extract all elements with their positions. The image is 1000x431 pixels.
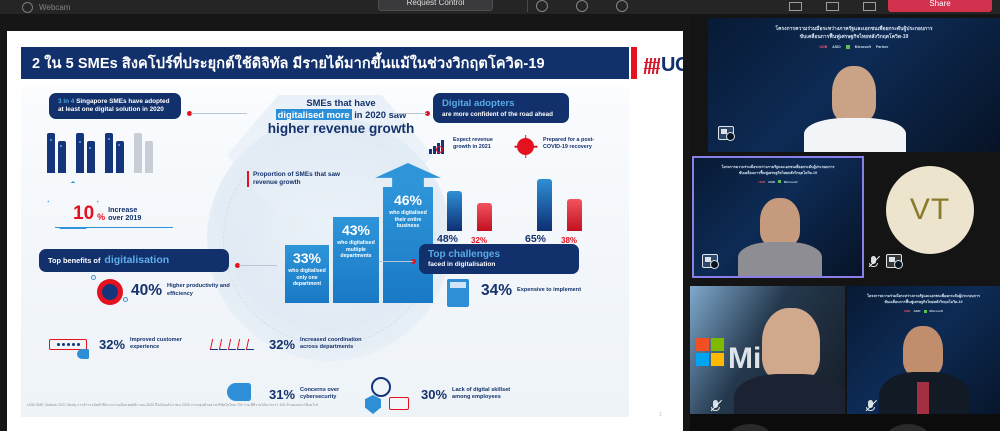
deck-header-line2: ขับเคลื่อนการฟื้นฟูเศรษฐกิจไทยหลังวิกฤตโ… [856,299,991,305]
building-icon [47,129,69,173]
logo-square-icon [846,45,850,49]
headline-highlight: digitalised more [276,109,352,120]
logo-square-icon [924,310,927,313]
increase-underline [55,227,173,228]
deck-header-line2: ขับเคลื่อนการฟื้นฟูเศรษฐกิจไทยหลังวิกฤตโ… [704,170,852,176]
virus-icon [517,138,534,155]
building-icon [105,129,127,173]
connector-line [393,113,427,114]
deck-header-line1: โครงการความร่วมมือระหว่างภาครัฐและเอกชนเ… [726,25,983,33]
people-icon[interactable] [826,2,839,11]
headline-line1: SMEs that have [249,97,433,108]
webcam-icon[interactable] [22,2,33,13]
callout-top-challenges: Top challenges faced in digitalisation [419,244,579,274]
connector-line [239,265,277,266]
mic-muted-icon[interactable] [708,398,723,413]
adopters-bar-32 [477,203,492,231]
slide-title-bar: 2 ใน 5 SMEs สิงคโปร์ที่ประยุกต์ใช้ดิจิทั… [21,47,629,79]
benefit-stat-32b: 32% Increased coordination across depart… [269,337,372,352]
participant-rail: โครงการความร่วมมือระหว่างภาครัฐและเอกชนเ… [690,14,1000,431]
deck-logo-row: UOB ASID Microsoft Partner [726,45,983,49]
increase-label: Increase over 2019 [108,206,141,223]
challenge-30-text: Lack of digital skillset among employees [452,387,524,402]
benefit-40-text: Higher productivity and efficiency [167,283,239,298]
presentation-slide: 2 ใน 5 SMEs สิงคโปร์ที่ประยุกต์ใช้ดิจิทั… [7,31,683,431]
benefit-40-value: 40% [131,283,162,299]
camera-icon[interactable] [789,2,802,11]
meeting-toolbar: Webcam Request Control Share [0,0,1000,14]
share-screen-icon[interactable] [886,254,902,268]
benefit-32b-text: Increased coordination across department… [300,337,372,352]
adopters-metric1-label: Expect revenue growth in 2021 [453,137,509,151]
bar-33-value: 33% [285,250,329,266]
growth-chart-icon [429,138,449,154]
logo-asid: ASID [913,309,920,313]
infographic-headline: SMEs that have digitalised more in 2020 … [249,97,433,136]
benefits-highlight: digitalisation [104,254,169,267]
logo-uob: UOB [819,45,827,49]
participant-tile-2[interactable]: โครงการความร่วมมือระหว่างภาครัฐและเอกชนเ… [692,156,864,278]
challenge-34-value: 34% [481,283,512,299]
headline-line2-rest: in 2020 saw [354,109,406,120]
increase-label-line2: over 2019 [108,213,141,222]
building-icon-inactive [134,129,156,173]
participant-face [762,308,820,380]
logo-asid: ASID [832,45,841,49]
uob-wordmark: UOB [661,54,683,77]
three-in-four-stat: 3 in 4 [58,98,74,105]
benefit-32a-value: 32% [99,338,125,351]
adopters-bar-65 [537,179,552,231]
logo-microsoft: Microsoft [784,180,798,184]
logo-asid: ASID [768,180,775,184]
microsoft-logo-icon [696,338,724,366]
challenge-30-value: 30% [421,388,447,401]
toolbar-center-group [536,0,628,12]
clock-icon [371,377,391,397]
mic-muted-icon[interactable] [863,398,878,413]
tile-deck-header: โครงการความร่วมมือระหว่างภาครัฐและเอกชนเ… [704,164,852,184]
adopters-subtitle: are more confident of the road ahead [442,111,553,118]
microsoft-wordmark: Mi [728,342,761,376]
logo-uob: UOB [904,309,911,313]
increase-stat: 10 % Increase over 2019 [73,205,141,222]
deck-header-line2: ขับเคลื่อนการฟื้นฟูเศรษฐกิจไทยหลังวิกฤตโ… [726,33,983,41]
callout-three-in-four: 3 in 4 Singapore SMEs have adopted at le… [49,93,181,119]
participant-face [903,326,943,376]
toolbar-right-group [789,0,876,12]
participant-tile-3[interactable]: Mi [690,286,845,431]
share-button[interactable]: Share [888,0,992,12]
bar-33-caption: who digitalised only one department [285,268,329,288]
bar-33: 33% who digitalised only one department [285,245,329,303]
benefit-stat-32a: 32% Improved customer experience [99,337,202,352]
participant-face [760,198,800,246]
connector-line [191,113,247,114]
participant-torso [804,118,906,152]
revenue-growth-bar-chart: 33% who digitalised only one department … [285,167,445,303]
slide-footnote: UOB SME Outlook 2021 Study การสำรวจจัดทำ… [27,403,607,408]
participant-tile-4[interactable]: โครงการความร่วมมือระหว่างภาครัฐและเอกชนเ… [847,286,1000,431]
cursor-hand-icon [77,349,89,359]
share-screen-icon[interactable] [702,254,718,268]
toolbar-app-label: Webcam [39,3,70,12]
share-screen-icon[interactable] [718,126,734,140]
increase-value: 10 [73,205,94,222]
raise-hand-icon[interactable] [616,0,628,12]
rail-bottom-strip [690,414,1000,431]
infographic-canvas: 3 in 4 Singapore SMEs have adopted at le… [21,87,629,417]
challenge-stat-30: 30% Lack of digital skillset among emplo… [421,387,524,402]
toolbar-divider [527,0,528,12]
challenge-34-text: Expensive to implement [517,287,581,294]
shared-content-stage[interactable]: 2 ใน 5 SMEs สิงคโปร์ที่ประยุกต์ใช้ดิจิทั… [0,14,690,431]
adopters-metric2-label: Prepared for a post-COVID-19 recovery [543,137,599,151]
logo-microsoft: Microsoft [930,309,944,313]
participant-face [832,66,876,122]
lock-hand-icon [227,383,251,401]
logo-partner: Partner [876,45,889,49]
building-icon [76,129,98,173]
challenges-title: Top challenges [428,249,570,261]
challenge-stat-34: 34% Expensive to implement [481,283,581,299]
participant-tile-1[interactable]: โครงการความร่วมมือระหว่างภาครัฐและเอกชนเ… [708,18,1000,152]
bar-43-value: 43% [333,222,379,238]
challenges-subtitle: faced in digitalisation [428,261,495,268]
bar-43: 43% who digitalised multiple departments [333,217,379,303]
increase-percent-sign: % [97,212,105,222]
benefits-prefix: Top benefits of [48,256,100,265]
title-accent-bar [631,47,637,79]
participant-torso [738,242,822,278]
uob-hash-icon [645,58,659,74]
adopters-comparison-chart: Expect revenue growth in 2021 Prepared f… [425,137,601,257]
logo-microsoft: Microsoft [855,45,871,49]
slide-page-number: 1 [659,412,662,418]
benefit-32b-value: 32% [269,338,295,351]
connector-line [379,261,413,262]
adopters-bar-48 [447,191,462,231]
tile-deck-header: โครงการความร่วมมือระหว่างภาครัฐและเอกชนเ… [726,25,983,49]
deck-logo-row: UOB ASID Microsoft [704,180,852,184]
logo-square-icon [778,180,781,183]
uob-logo: UOB [645,54,683,77]
toolbar-left-group: Webcam [22,2,70,13]
participant-avatar-vt[interactable]: VT [886,166,974,254]
three-in-four-text: Singapore SMEs have adopted at least one… [58,98,170,113]
reactions-icon[interactable] [536,0,548,12]
request-control-button[interactable]: Request Control [378,0,493,11]
tandem-bike-icon [211,339,255,350]
deck-header-line1: โครงการความร่วมมือระหว่างภาครัฐและเอกชนเ… [704,164,852,170]
calculator-icon [447,279,469,307]
buildings-illustration [47,129,156,173]
participant-head-partial [728,424,772,431]
slide-title-text: 2 ใน 5 SMEs สิงคโปร์ที่ประยุกต์ใช้ดิจิทั… [32,52,545,75]
tile-deck-header: โครงการความร่วมมือระหว่างภาครัฐและเอกชนเ… [856,293,991,313]
logo-uob: UOB [758,180,765,184]
benefit-stat-40: 40% Higher productivity and efficiency [131,283,239,299]
meeting-window: Webcam Request Control Share 2 ใน 5 SMEs… [0,0,1000,431]
challenge-stat-31: 31% Concerns over cybersecurity [269,387,372,402]
chat-icon[interactable] [576,0,588,12]
deck-logo-row: UOB ASID Microsoft [856,309,991,313]
callout-top-benefits: Top benefits of digitalisation [39,249,229,272]
mic-muted-icon[interactable] [866,254,881,269]
adopters-title: Digital adopters [442,98,560,110]
adopters-bar-38 [567,199,582,231]
callout-digital-adopters: Digital adopters are more confident of t… [433,93,569,123]
bar-43-caption: who digitalised multiple departments [333,240,379,260]
challenge-31-value: 31% [269,388,295,401]
gear-icon [97,279,123,305]
headline-line2: digitalised more in 2020 saw [249,109,433,120]
benefit-32a-text: Improved customer experience [130,337,202,352]
participant-head-partial [886,424,930,431]
screen-icon[interactable] [863,2,876,11]
headline-line3: higher revenue growth [249,122,433,136]
challenge-31-text: Concerns over cybersecurity [300,387,372,402]
